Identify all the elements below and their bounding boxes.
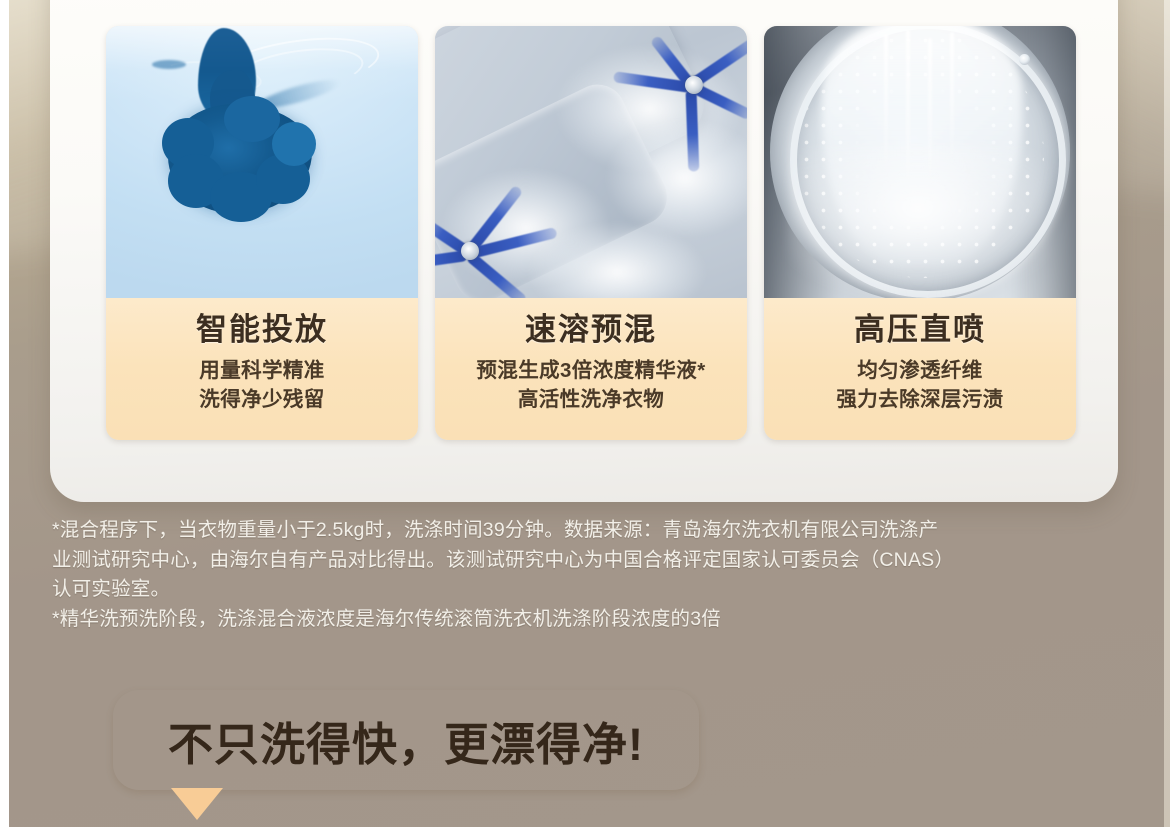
card-photo-high-pressure-spray [764,26,1076,298]
card-subtitle-line-2: 强力去除深层污渍 [836,385,1003,414]
card-photo-rapid-premix [435,26,747,298]
card-subtitle: 预混生成3倍浓度精华液* 高活性洗净衣物 [476,356,705,414]
jet-nozzle-icon [461,242,479,260]
product-detail-page: 智能投放 用量科学精准 洗得净少残留 [0,0,1170,827]
card-subtitle: 均匀渗透纤维 强力去除深层污渍 [836,356,1003,414]
card-caption-smart-dispensing: 智能投放 用量科学精准 洗得净少残留 [106,298,418,440]
card-subtitle-line-2: 洗得净少残留 [199,385,324,414]
water-streak [906,30,910,206]
water-streak [950,32,954,172]
drum-bolt-icon [1019,54,1030,65]
card-subtitle-line-1: 预混生成3倍浓度精华液* [476,356,705,385]
card-subtitle-line-2: 高活性洗净衣物 [476,385,705,414]
headline-bubble-tail [171,788,223,820]
card-caption-rapid-premix: 速溶预混 预混生成3倍浓度精华液* 高活性洗净衣物 [435,298,747,440]
card-title: 智能投放 [196,312,328,348]
feature-card-row: 智能投放 用量科学精准 洗得净少残留 [106,26,1078,440]
dye-speck [152,60,186,69]
card-title: 速溶预混 [525,312,657,348]
footnote-line-2: 业测试研究中心，由海尔自有产品对比得出。该测试研究中心为中国合格评定国家认可委员… [52,546,1122,576]
card-caption-high-pressure-spray: 高压直喷 均匀渗透纤维 强力去除深层污渍 [764,298,1076,440]
card-title: 高压直喷 [854,312,986,348]
footnote-line-3: 认可实验室。 [52,575,1122,605]
feature-card-smart-dispensing[interactable]: 智能投放 用量科学精准 洗得净少残留 [106,26,418,440]
page-left-edge-strip [0,0,9,827]
headline-banner: 不只洗得快，更漂得净! [113,690,699,790]
card-subtitle-line-1: 用量科学精准 [199,356,324,385]
water-streak [928,38,932,198]
footnote-line-4: *精华洗预洗阶段，洗涤混合液浓度是海尔传统滚筒洗衣机洗涤阶段浓度的3倍 [52,605,1122,635]
headline-bubble: 不只洗得快，更漂得净! [113,690,699,790]
card-subtitle-line-1: 均匀渗透纤维 [836,356,1003,385]
feature-card-rapid-premix[interactable]: 速溶预混 预混生成3倍浓度精华液* 高活性洗净衣物 [435,26,747,440]
footnote-block: *混合程序下，当衣物重量小于2.5kg时，洗涤时间39分钟。数据来源：青岛海尔洗… [52,516,1122,635]
detergent-jet-lower [435,26,747,298]
card-photo-smart-dispensing [106,26,418,298]
page-right-edge-strip [1164,0,1170,827]
dye-cloud-lobe [272,122,316,166]
dye-cloud-lobe [224,96,280,142]
blue-dye-water-illustration [106,26,418,298]
feature-card-high-pressure-spray[interactable]: 高压直喷 均匀渗透纤维 强力去除深层污渍 [764,26,1076,440]
water-spray-mist [788,146,1048,298]
card-subtitle: 用量科学精准 洗得净少残留 [199,356,324,414]
detergent-drawer-illustration [435,26,747,298]
water-streak [884,34,888,184]
headline-text: 不只洗得快，更漂得净! [168,708,644,773]
washer-drum-illustration [764,26,1076,298]
footnote-line-1: *混合程序下，当衣物重量小于2.5kg时，洗涤时间39分钟。数据来源：青岛海尔洗… [52,516,1122,546]
